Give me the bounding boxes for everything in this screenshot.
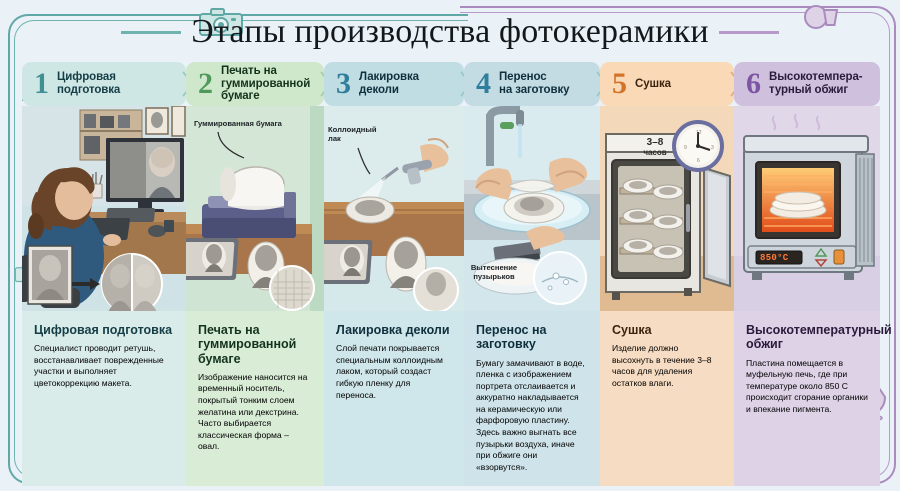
page-title: Этапы производства фотокерамики bbox=[191, 13, 708, 51]
drying-time-badge: 3–8 часов bbox=[634, 138, 676, 157]
step-header-label-1: Цифровая подготовка bbox=[57, 71, 120, 97]
step-column-4: 4 Перенос на заготовку bbox=[464, 62, 600, 486]
step-body-title-4: Перенос на заготовку bbox=[476, 323, 588, 352]
step-column-2: 2 Печать на гуммированной бумаге bbox=[186, 62, 324, 486]
step-number-2: 2 bbox=[198, 69, 213, 99]
step-column-5: 5 Сушка bbox=[600, 62, 734, 486]
step-body-6: Высокотемпературный обжиг Пластина помещ… bbox=[734, 311, 880, 486]
step-body-text-6: Пластина помещается в муфельную печь, гд… bbox=[746, 358, 868, 416]
svg-text:9: 9 bbox=[684, 145, 687, 151]
step-header-line2: деколи bbox=[359, 84, 399, 96]
step-header-3[interactable]: 3 Лакировка деколи bbox=[324, 62, 464, 106]
step-body-title-5: Сушка bbox=[612, 323, 722, 337]
step-column-3: 3 Лакировка деколи bbox=[324, 62, 464, 486]
step-header-6[interactable]: 6 Высокотемпера- турный обжиг bbox=[734, 62, 880, 106]
step-header-4[interactable]: 4 Перенос на заготовку bbox=[464, 62, 600, 106]
step-body-text-1: Специалист проводит ретушь, восстанавлив… bbox=[34, 343, 174, 389]
callout-gummed-paper: Гуммированная бумага bbox=[194, 120, 282, 129]
step-header-line3: бумаге bbox=[221, 90, 260, 102]
step-header-line2: турный обжиг bbox=[769, 84, 848, 96]
kiln-temperature-display: 850°C bbox=[760, 253, 789, 263]
step-body-3: Лакировка деколи Слой печати покрывается… bbox=[324, 311, 464, 486]
svg-text:3: 3 bbox=[711, 145, 714, 151]
step-number-6: 6 bbox=[746, 69, 761, 99]
step-header-label-3: Лакировка деколи bbox=[359, 71, 419, 97]
drying-time-value: 3–8 bbox=[647, 137, 664, 148]
title-rule-left bbox=[121, 31, 181, 34]
step-header-line1: Высокотемпера- bbox=[769, 71, 862, 83]
step-header-line1: Цифровая bbox=[57, 71, 116, 83]
illustration-4: Вытеснение пузырьков bbox=[464, 106, 600, 311]
step-header-line1: Печать на bbox=[221, 65, 277, 77]
illustration-1 bbox=[22, 106, 186, 311]
step-header-2[interactable]: 2 Печать на гуммированной бумаге bbox=[186, 62, 324, 106]
step-body-5: Сушка Изделие должно высохнуть в течение… bbox=[600, 311, 734, 486]
step-body-title-1: Цифровая подготовка bbox=[34, 323, 174, 337]
step-body-text-3: Слой печати покрывается специальным колл… bbox=[336, 343, 452, 401]
step-body-title-6: Высокотемпературный обжиг bbox=[746, 323, 868, 352]
step-header-label-6: Высокотемпера- турный обжиг bbox=[769, 71, 862, 97]
step-number-5: 5 bbox=[612, 69, 627, 99]
illustration-5: 123 69 3–8 часов bbox=[600, 106, 734, 311]
step-header-label-5: Сушка bbox=[635, 78, 671, 91]
title-rule-right bbox=[719, 31, 779, 34]
step-number-1: 1 bbox=[34, 69, 49, 99]
steps-row: 1 Цифровая подготовка bbox=[22, 62, 880, 486]
step-body-title-3: Лакировка деколи bbox=[336, 323, 452, 337]
step-header-5[interactable]: 5 Сушка bbox=[600, 62, 734, 106]
step-number-3: 3 bbox=[336, 69, 351, 99]
callout-colloidal-lacquer: Коллоидный лак bbox=[328, 126, 390, 143]
step-body-text-4: Бумагу замачивают в воде, пленка с изобр… bbox=[476, 358, 588, 474]
svg-text:12: 12 bbox=[696, 130, 702, 136]
step-header-line2: подготовка bbox=[57, 84, 120, 96]
step-body-2: Печать на гуммированной бумаге Изображен… bbox=[186, 311, 324, 486]
svg-text:6: 6 bbox=[697, 158, 700, 164]
drying-time-unit: часов bbox=[634, 149, 676, 157]
step-column-6: 6 Высокотемпера- турный обжиг bbox=[734, 62, 880, 486]
step-number-4: 4 bbox=[476, 69, 491, 99]
step-body-text-2: Изображение наносится на временный носит… bbox=[198, 372, 312, 453]
illustration-6: 850°C bbox=[734, 106, 880, 311]
step-header-label-4: Перенос на заготовку bbox=[499, 71, 569, 97]
step-body-1: Цифровая подготовка Специалист проводит … bbox=[22, 311, 186, 486]
step-body-title-2: Печать на гуммированной бумаге bbox=[198, 323, 312, 366]
step-header-1[interactable]: 1 Цифровая подготовка bbox=[22, 62, 186, 106]
step-header-line1: Перенос bbox=[499, 71, 547, 83]
infographic-canvas: Этапы производства фотокерамики 1 Цифров… bbox=[0, 0, 900, 491]
title-row: Этапы производства фотокерамики bbox=[0, 8, 900, 56]
illustration-3: Коллоидный лак bbox=[324, 106, 464, 311]
callout-bubble-removal: Вытеснение пузырьков bbox=[466, 264, 522, 281]
step-header-line2: гуммированной bbox=[221, 78, 310, 90]
illustration-2: Гуммированная бумага bbox=[186, 106, 324, 311]
step-body-text-5: Изделие должно высохнуть в течение 3–8 ч… bbox=[612, 343, 722, 389]
step-column-1: 1 Цифровая подготовка bbox=[22, 62, 186, 486]
step-body-4: Перенос на заготовку Бумагу замачивают в… bbox=[464, 311, 600, 486]
step-header-label-2: Печать на гуммированной бумаге bbox=[221, 65, 310, 104]
step-header-line2: на заготовку bbox=[499, 84, 569, 96]
step-header-line1: Лакировка bbox=[359, 71, 419, 83]
